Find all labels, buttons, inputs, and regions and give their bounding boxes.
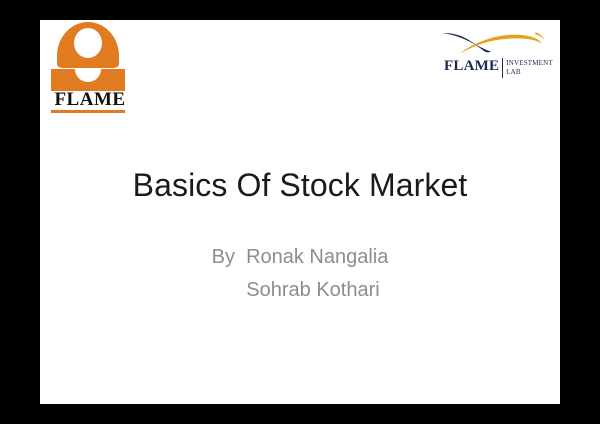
flame-book-notch	[75, 69, 101, 82]
investment-lab-subtext: Investment Lab	[506, 58, 553, 76]
investment-lab-divider	[502, 58, 503, 78]
investment-lab-line-2: Lab	[506, 68, 521, 76]
screenshot-viewport: FLAME FLAME Investment Lab Basics Of Sto…	[0, 0, 600, 424]
investment-lab-wordmark-group: FLAME Investment Lab	[444, 58, 553, 78]
subtitle-line-author-1: By Ronak Nangalia	[40, 241, 560, 274]
flame-logo-underline	[51, 110, 125, 113]
flame-book-icon	[51, 69, 125, 91]
flame-horseshoe-icon	[57, 22, 119, 68]
slide-subtitle: By Ronak Nangalia Sohrab Kothari	[40, 241, 560, 307]
subtitle-line-author-2: Sohrab Kothari	[40, 274, 560, 307]
slide-title: Basics Of Stock Market	[40, 166, 560, 204]
bird-swoosh-icon	[440, 30, 548, 58]
flame-university-logo: FLAME	[48, 22, 132, 108]
flame-horseshoe-hole	[74, 28, 102, 58]
flame-logo-wordmark: FLAME	[48, 90, 132, 109]
presentation-slide: FLAME FLAME Investment Lab Basics Of Sto…	[40, 20, 560, 404]
flame-investment-lab-logo: FLAME Investment Lab	[438, 30, 550, 82]
investment-lab-flame-word: FLAME	[444, 58, 499, 75]
investment-lab-line-1: Investment	[506, 59, 553, 67]
